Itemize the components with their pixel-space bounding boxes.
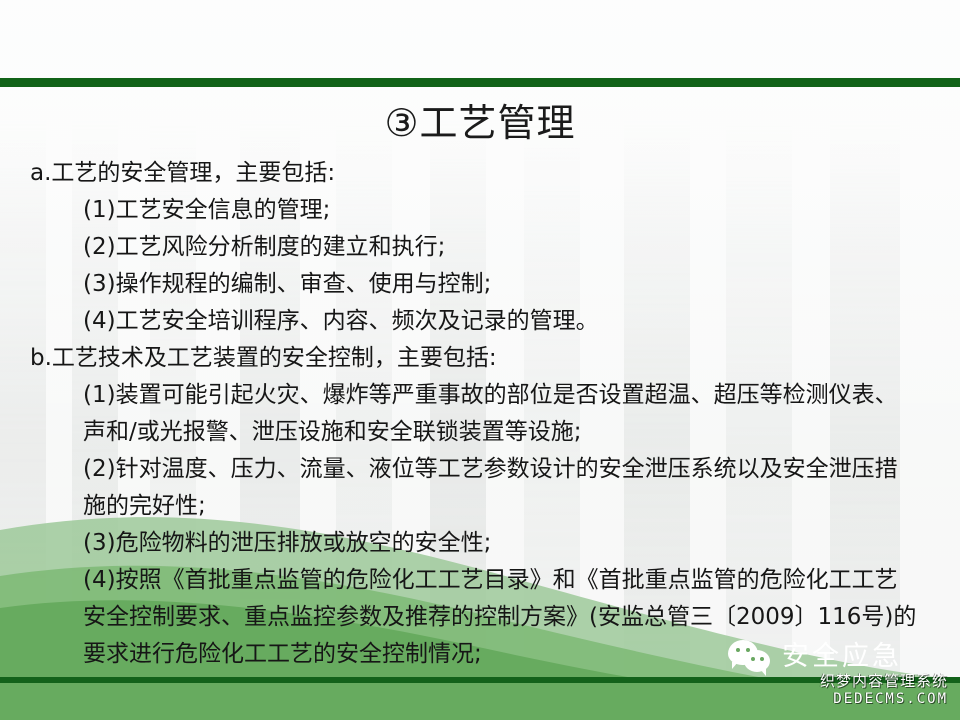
body-line: (4)工艺安全培训程序、内容、频次及记录的管理。 [30,303,940,340]
body-line: (2)工艺风险分析制度的建立和执行; [30,229,940,266]
body-line: 施的完好性; [30,488,940,525]
site-watermark-cn: 织梦内容管理系统 [820,672,948,690]
body-line: a.工艺的安全管理，主要包括: [30,155,940,192]
wechat-icon [728,640,774,674]
watermark: 安全应急 织梦内容管理系统 DEDECMS.COM [728,638,948,712]
slide-body: a.工艺的安全管理，主要包括: (1)工艺安全信息的管理; (2)工艺风险分析制… [30,155,940,673]
slide-content: ③工艺管理 a.工艺的安全管理，主要包括: (1)工艺安全信息的管理; (2)工… [0,0,960,720]
body-line: (4)按照《首批重点监管的危险化工工艺目录》和《首批重点监管的危险化工工艺 [30,562,940,599]
body-line: b.工艺技术及工艺装置的安全控制，主要包括: [30,340,940,377]
body-line: (1)工艺安全信息的管理; [30,192,940,229]
wechat-account-badge: 安全应急 [728,640,902,674]
body-line: (1)装置可能引起火灾、爆炸等严重事故的部位是否设置超温、超压等检测仪表、 [30,377,940,414]
presentation-slide: ③工艺管理 a.工艺的安全管理，主要包括: (1)工艺安全信息的管理; (2)工… [0,0,960,720]
body-line: (3)危险物料的泄压排放或放空的安全性; [30,525,940,562]
body-line: 声和/或光报警、泄压设施和安全联锁装置等设施; [30,414,940,451]
body-line: 安全控制要求、重点监控参数及推荐的控制方案》(安监总管三〔2009〕116号)的 [30,599,940,636]
site-watermark-en: DEDECMS.COM [820,690,948,708]
body-line: (3)操作规程的编制、审查、使用与控制; [30,266,940,303]
wechat-account-name: 安全应急 [782,642,902,672]
body-line: (2)针对温度、压力、流量、液位等工艺参数设计的安全泄压系统以及安全泄压措 [30,451,940,488]
page-title: ③工艺管理 [0,100,960,146]
site-watermark: 织梦内容管理系统 DEDECMS.COM [820,672,948,708]
